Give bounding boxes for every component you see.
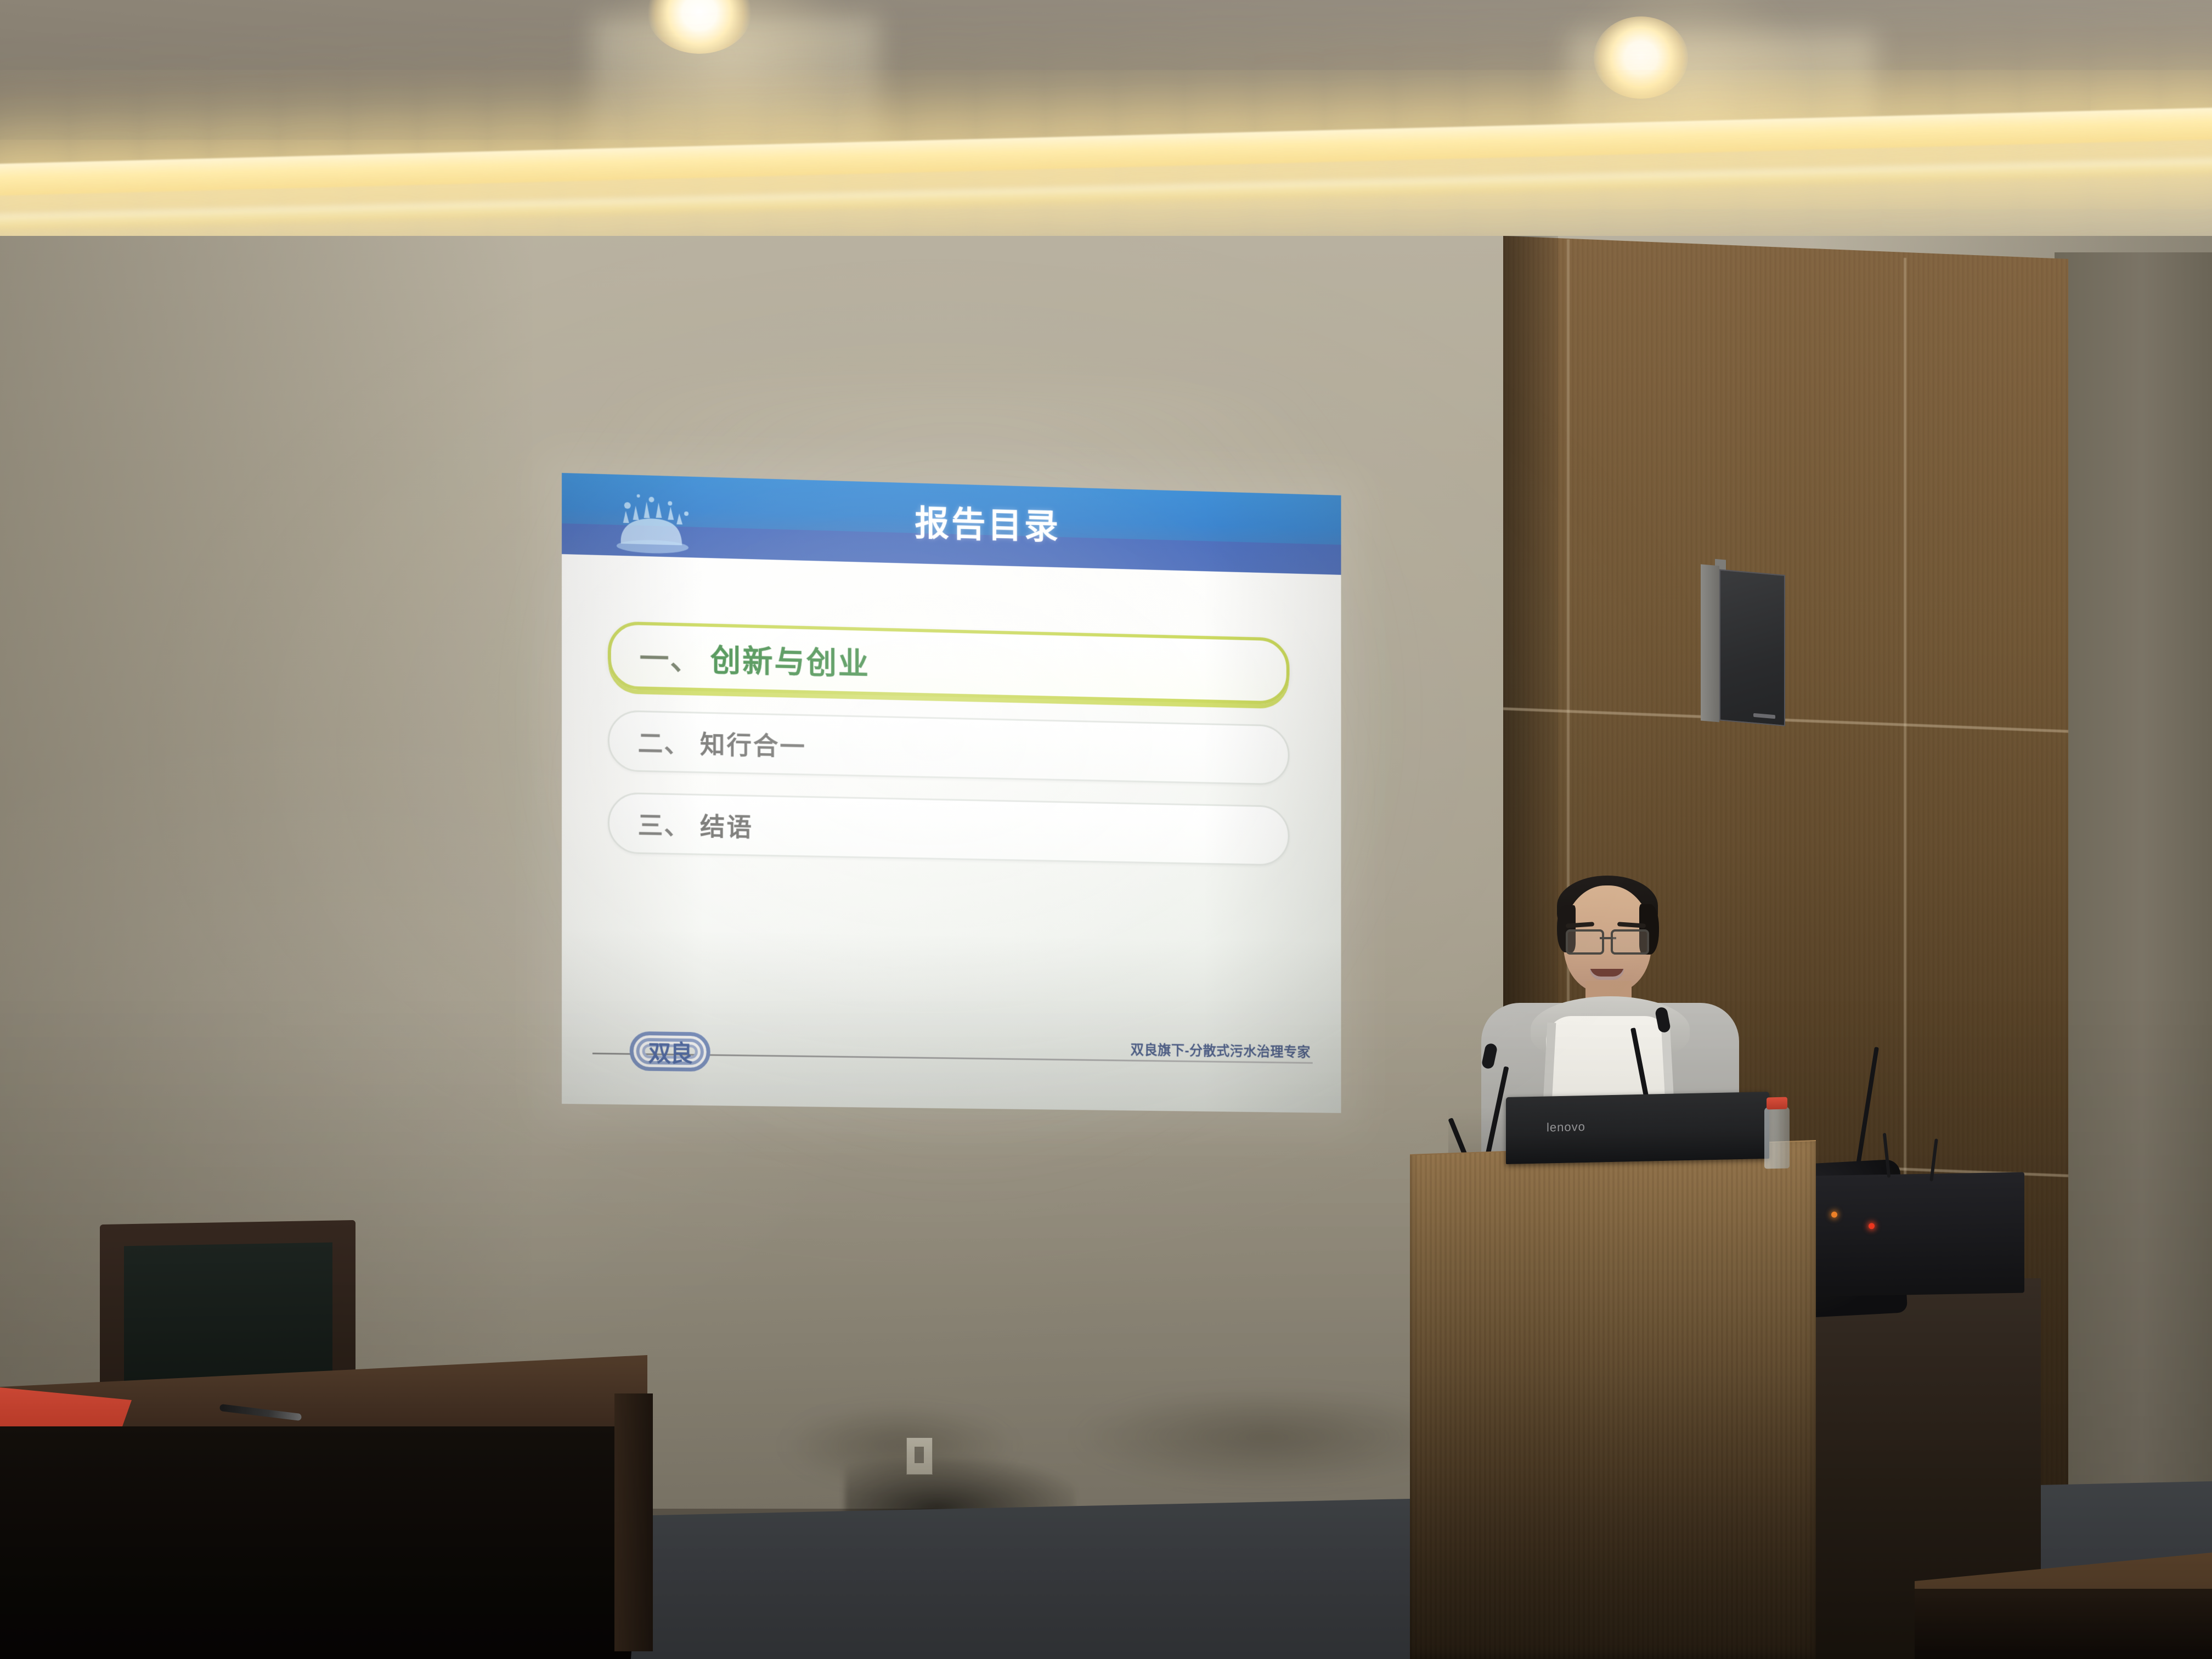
toc-item-3[interactable]: 三、 结语 <box>608 792 1290 866</box>
glasses-lens-left <box>1566 929 1604 955</box>
power-outlet[interactable] <box>906 1437 933 1475</box>
slide-footer: 双良 双良旗下-分散式污水治理专家 <box>562 1028 1341 1082</box>
speaker-side <box>1701 564 1719 722</box>
toc-item-3-number: 三、 <box>638 805 690 843</box>
glasses-icon <box>1566 929 1649 951</box>
wall-mounted-speaker <box>1701 564 1783 727</box>
status-led <box>1869 1223 1875 1229</box>
wireless-receiver-rack[interactable] <box>1805 1172 2024 1297</box>
toc-item-3-label: 结语 <box>700 806 753 844</box>
laptop-brand-label: lenovo <box>1547 1120 1585 1135</box>
toc-item-2-label: 知行合一 <box>700 725 806 763</box>
chair-backrest-pad <box>124 1243 332 1393</box>
projection-screen[interactable]: 报告目录 一、 创新与创业 二、 知行合一 三、 结语 <box>562 473 1341 1113</box>
right-foreground-table-front <box>1915 1589 2212 1659</box>
ceiling-downlight-right <box>1594 16 1688 99</box>
slide-toc-list: 一、 创新与创业 二、 知行合一 三、 结语 <box>608 621 1290 887</box>
speaker-badge <box>1753 713 1775 719</box>
glasses-lens-right <box>1611 929 1649 955</box>
podium-shading <box>1410 1141 1816 1659</box>
toc-item-1-label: 创新与创业 <box>710 635 870 683</box>
water-bottle[interactable] <box>1764 1107 1790 1169</box>
toc-item-2[interactable]: 二、 知行合一 <box>608 710 1290 786</box>
status-led <box>1831 1211 1837 1217</box>
bottle-cap <box>1767 1097 1787 1110</box>
company-logo: 双良 <box>630 1031 710 1072</box>
right-wall <box>2055 252 2212 1525</box>
table-front-panel <box>0 1426 647 1659</box>
toc-item-1[interactable]: 一、 创新与创业 <box>608 621 1290 704</box>
presentation-room-photo: 报告目录 一、 创新与创业 二、 知行合一 三、 结语 <box>0 0 2212 1659</box>
speaker-grille <box>1719 569 1785 726</box>
footer-tagline: 双良旗下-分散式污水治理专家 <box>1131 1039 1311 1061</box>
logo-text: 双良 <box>630 1031 710 1072</box>
wall-stain <box>1075 1388 1459 1487</box>
toc-item-2-number: 二、 <box>638 723 690 760</box>
toc-item-1-number: 一、 <box>640 634 701 679</box>
slide: 报告目录 一、 创新与创业 二、 知行合一 三、 结语 <box>562 473 1341 1113</box>
laptop[interactable]: lenovo <box>1506 1092 1769 1164</box>
table-side-edge <box>614 1393 653 1651</box>
